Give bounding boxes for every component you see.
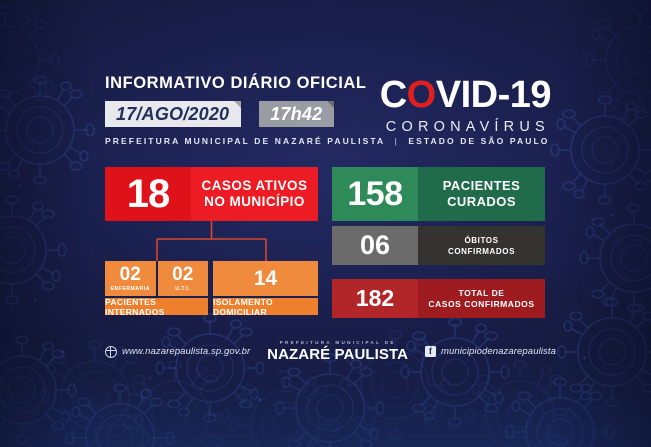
city-logo: PREFEITURA MUNICIPAL DE NAZARÉ PAULISTA <box>267 340 408 363</box>
subtitle-separator: | <box>394 136 398 146</box>
stat-card-total-confirmed: 182 TOTAL DE CASOS CONFIRMADOS <box>332 279 545 318</box>
icu-value: 02 <box>172 265 193 284</box>
right-vignette <box>561 0 651 447</box>
badge-fold-corner <box>327 101 334 108</box>
stat-card-cured: 158 PACIENTES CURADOS <box>332 167 545 221</box>
active-cases-label-line1: CASOS ATIVOS <box>202 178 308 194</box>
covid-daily-report-graphic: INFORMATIVO DIÁRIO OFICIAL 17/AGO/2020 1… <box>0 0 651 447</box>
home-isolation-value: 14 <box>213 261 318 296</box>
facebook-link[interactable]: f municipiodenazarepaulista <box>425 346 556 357</box>
virus-background-decoration <box>0 0 651 447</box>
badge-fold-corner <box>234 101 241 108</box>
active-cases-label-line2: NO MUNICÍPIO <box>204 194 305 210</box>
city-logo-name: NAZARÉ PAULISTA <box>267 346 408 363</box>
ward-value: 02 <box>120 265 141 284</box>
website-text: www.nazarepaulista.sp.gov.br <box>122 346 250 357</box>
covid-logo: COVID-19 CORONAVÍRUS <box>380 76 551 135</box>
ward-cell: 02 ENFERMARIA <box>105 261 156 296</box>
deaths-value: 06 <box>332 226 418 265</box>
stat-card-active-cases: 18 CASOS ATIVOS NO MUNICÍPIO <box>105 167 318 221</box>
covid-wordmark-rest: VID-19 <box>436 74 551 116</box>
hospitalized-footer-label: PACIENTES INTERNADOS <box>105 298 208 315</box>
globe-icon <box>105 346 117 358</box>
stat-card-hospitalized: 02 ENFERMARIA 02 U.T.I. PACIENTES INTERN… <box>105 261 208 315</box>
footer-block: www.nazarepaulista.sp.gov.br PREFEITURA … <box>105 340 556 363</box>
cured-label-line1: PACIENTES <box>443 178 521 194</box>
stat-card-home-isolation: 14 ISOLAMENTO DOMICILIAR <box>213 261 318 315</box>
deaths-label: ÓBITOS CONFIRMADOS <box>418 226 545 265</box>
deaths-label-line1: ÓBITOS <box>464 235 498 246</box>
facebook-icon: f <box>425 346 436 357</box>
icu-label: U.T.I. <box>175 286 190 292</box>
city-logo-kicker: PREFEITURA MUNICIPAL DE <box>267 340 408 345</box>
total-label-line2: CASOS CONFIRMADOS <box>428 299 534 310</box>
time-badge: 17h42 <box>259 101 334 127</box>
website-link[interactable]: www.nazarepaulista.sp.gov.br <box>105 346 250 358</box>
active-cases-value: 18 <box>105 167 191 221</box>
deaths-label-line2: CONFIRMADOS <box>448 246 515 257</box>
facebook-handle-text: municipiodenazarepaulista <box>441 346 556 357</box>
home-isolation-footer-label: ISOLAMENTO DOMICILIAR <box>213 298 318 315</box>
cured-label-line2: CURADOS <box>447 194 516 210</box>
tree-connector <box>105 221 318 261</box>
total-label-line1: TOTAL DE <box>459 288 505 299</box>
time-badge-label: 17h42 <box>270 104 322 125</box>
ward-label: ENFERMARIA <box>110 286 150 292</box>
subtitle-line: PREFEITURA MUNICIPAL DE NAZARÉ PAULISTA … <box>105 136 549 146</box>
left-vignette <box>0 0 90 447</box>
subtitle-state: ESTADO DE SÃO PAULO <box>408 136 549 146</box>
covid-subtitle: CORONAVÍRUS <box>380 119 551 135</box>
total-label: TOTAL DE CASOS CONFIRMADOS <box>418 279 545 318</box>
stat-card-deaths: 06 ÓBITOS CONFIRMADOS <box>332 226 545 265</box>
active-cases-label: CASOS ATIVOS NO MUNICÍPIO <box>191 167 318 221</box>
hospitalized-values-row: 02 ENFERMARIA 02 U.T.I. <box>105 261 208 296</box>
date-badge-label: 17/AGO/2020 <box>116 104 229 125</box>
subtitle-municipality: PREFEITURA MUNICIPAL DE NAZARÉ PAULISTA <box>105 136 385 146</box>
covid-wordmark: COVID-19 <box>380 76 551 114</box>
icu-cell: 02 U.T.I. <box>158 261 209 296</box>
covid-letter-c: C <box>380 74 407 116</box>
total-value: 182 <box>332 279 418 318</box>
cured-label: PACIENTES CURADOS <box>418 167 545 221</box>
covid-letter-o-accent: O <box>407 74 436 116</box>
date-badge: 17/AGO/2020 <box>105 101 241 127</box>
cured-value: 158 <box>332 167 418 221</box>
